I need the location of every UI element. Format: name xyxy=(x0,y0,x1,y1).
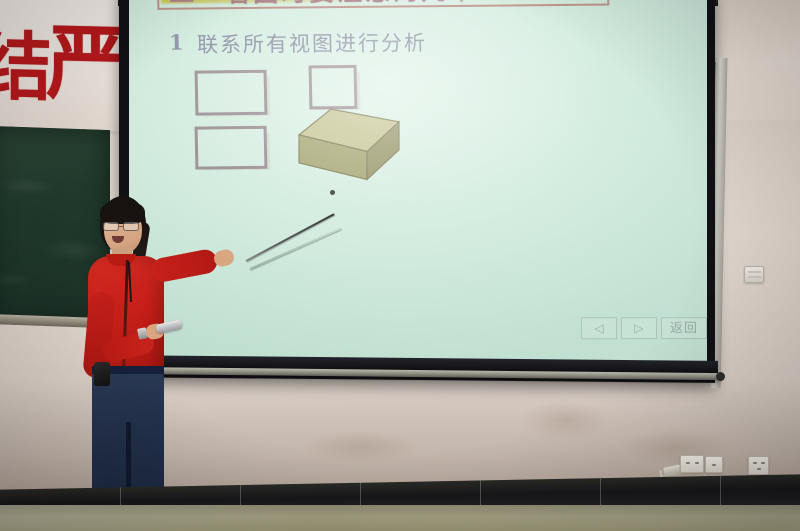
pointer-tip xyxy=(330,190,335,195)
side-view-rect xyxy=(309,65,358,110)
next-button[interactable]: ▷ xyxy=(621,317,657,339)
outlet-hole xyxy=(686,462,690,464)
classroom-photo-scene: 结 严 学会 二 看图时要注意的几个... 1 联系所有视图进行分析 xyxy=(0,0,800,531)
microphone-beltpack xyxy=(94,362,110,386)
presenter xyxy=(72,196,212,531)
tile-seam xyxy=(720,476,721,508)
outlet-hole xyxy=(761,462,765,464)
top-view-rect xyxy=(195,126,268,170)
floor-sheen xyxy=(0,505,800,531)
glasses-left-lens xyxy=(103,222,119,231)
wall-smudge xyxy=(520,400,610,440)
wall-smudge xyxy=(300,430,420,464)
power-outlet[interactable] xyxy=(680,455,704,473)
presentation-slide: 二 看图时要注意的几个... 1 联系所有视图进行分析 ◁ ▷ 返回 xyxy=(129,0,707,364)
return-button[interactable]: 返回 xyxy=(661,317,707,339)
outlet-hole xyxy=(695,462,699,464)
slide-title: 二 看图时要注意的几个... xyxy=(169,0,630,10)
outlet-hole xyxy=(712,464,716,466)
power-outlet[interactable] xyxy=(748,456,769,475)
rectangular-prism-icon xyxy=(297,107,401,186)
hair-front xyxy=(100,200,145,224)
switch-rocker xyxy=(748,276,761,278)
outlet-hole xyxy=(757,468,761,470)
bullet-text: 联系所有视图进行分析 xyxy=(197,27,427,59)
glasses-icon xyxy=(103,222,143,231)
banner-character-jie: 结 xyxy=(0,30,52,106)
outlet-hole xyxy=(753,462,757,464)
switch-rocker xyxy=(748,271,761,273)
glasses-right-lens xyxy=(123,222,139,231)
power-outlet[interactable] xyxy=(705,456,723,473)
wall-motto-banner: 结 严 xyxy=(0,0,122,132)
projection-screen-pull-knob[interactable] xyxy=(716,372,725,381)
front-view-rect xyxy=(195,70,268,116)
bullet-number: 1 xyxy=(169,30,184,55)
prev-button[interactable]: ◁ xyxy=(581,317,617,339)
slide-nav-row: ◁ ▷ 返回 xyxy=(581,317,707,339)
right-arm xyxy=(150,248,219,284)
light-switch[interactable] xyxy=(744,266,764,283)
projection-screen-surface[interactable]: 二 看图时要注意的几个... 1 联系所有视图进行分析 ◁ ▷ 返回 xyxy=(129,0,707,364)
banner-character-yan: 严 xyxy=(46,22,128,106)
